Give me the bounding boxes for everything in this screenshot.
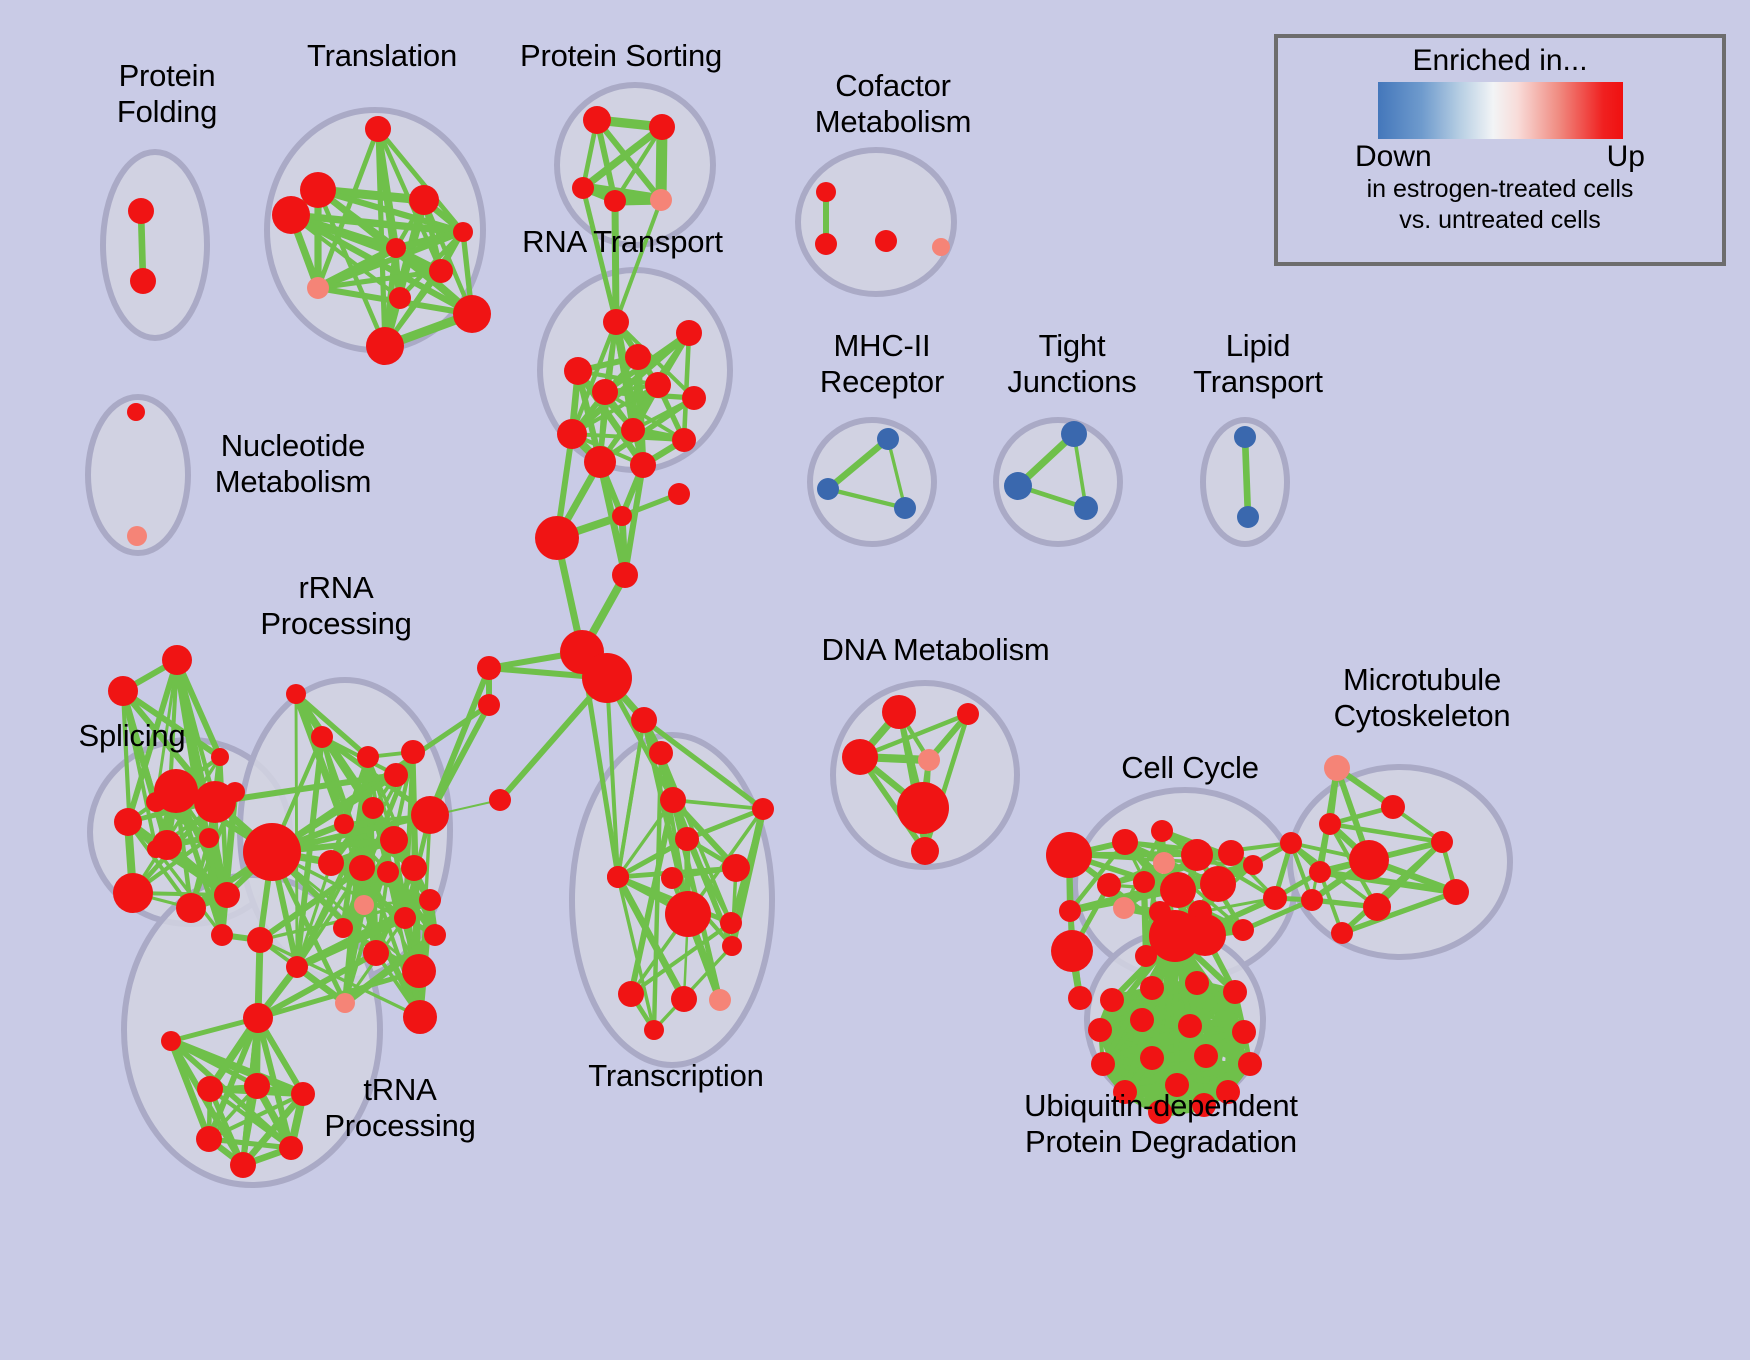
network-node[interactable] xyxy=(114,808,142,836)
network-node[interactable] xyxy=(709,989,731,1011)
legend-title: Enriched in... xyxy=(1412,44,1587,78)
network-node[interactable] xyxy=(214,882,240,908)
cluster-label-translation: Translation xyxy=(292,38,472,74)
cluster-hull-protein-folding xyxy=(103,152,207,338)
cluster-label-ubiquitin: Ubiquitin-dependent Protein Degradation xyxy=(988,1088,1334,1160)
network-node[interactable] xyxy=(1051,930,1093,972)
network-node[interactable] xyxy=(453,222,473,242)
network-node[interactable] xyxy=(1135,945,1157,967)
network-node[interactable] xyxy=(389,287,411,309)
network-node[interactable] xyxy=(612,562,638,588)
network-node[interactable] xyxy=(194,781,236,823)
network-node[interactable] xyxy=(403,1000,437,1034)
network-node[interactable] xyxy=(453,295,491,333)
network-node[interactable] xyxy=(349,855,375,881)
legend-panel: Enriched in... Down Up in estrogen-treat… xyxy=(1274,34,1726,266)
network-node[interactable] xyxy=(362,797,384,819)
network-node[interactable] xyxy=(1061,421,1087,447)
network-node[interactable] xyxy=(402,954,436,988)
network-node[interactable] xyxy=(394,907,416,929)
network-node[interactable] xyxy=(386,238,406,258)
edge xyxy=(615,201,616,322)
network-node[interactable] xyxy=(676,320,702,346)
network-node[interactable] xyxy=(300,172,336,208)
network-node[interactable] xyxy=(911,837,939,865)
network-node[interactable] xyxy=(882,695,916,729)
network-node[interactable] xyxy=(419,889,441,911)
network-node[interactable] xyxy=(668,483,690,505)
legend-low-label: Down xyxy=(1355,140,1432,174)
network-node[interactable] xyxy=(1140,1046,1164,1070)
network-node[interactable] xyxy=(1443,879,1469,905)
network-node[interactable] xyxy=(286,956,308,978)
network-node[interactable] xyxy=(113,873,153,913)
network-node[interactable] xyxy=(128,198,154,224)
network-node[interactable] xyxy=(279,1136,303,1160)
cluster-label-dna-metabolism: DNA Metabolism xyxy=(818,632,1053,668)
network-node[interactable] xyxy=(722,854,750,882)
cluster-label-rna-transport: RNA Transport xyxy=(510,224,735,260)
network-node[interactable] xyxy=(583,106,611,134)
network-node[interactable] xyxy=(1218,840,1244,866)
network-node[interactable] xyxy=(645,372,671,398)
network-node[interactable] xyxy=(1184,914,1226,956)
network-node[interactable] xyxy=(612,506,632,526)
cluster-label-protein-folding: Protein Folding xyxy=(82,58,252,130)
network-node[interactable] xyxy=(1181,839,1213,871)
network-node[interactable] xyxy=(816,182,836,202)
network-node[interactable] xyxy=(478,694,500,716)
network-node[interactable] xyxy=(720,912,742,934)
network-node[interactable] xyxy=(1074,496,1098,520)
network-node[interactable] xyxy=(572,177,594,199)
network-node[interactable] xyxy=(401,855,427,881)
network-node[interactable] xyxy=(243,823,301,881)
network-node[interactable] xyxy=(1004,472,1032,500)
network-node[interactable] xyxy=(752,798,774,820)
network-node[interactable] xyxy=(108,676,138,706)
network-node[interactable] xyxy=(661,867,683,889)
network-node[interactable] xyxy=(366,327,404,365)
network-node[interactable] xyxy=(650,189,672,211)
network-node[interactable] xyxy=(877,428,899,450)
network-node[interactable] xyxy=(247,927,273,953)
network-node[interactable] xyxy=(607,866,629,888)
network-node[interactable] xyxy=(211,924,233,946)
network-node[interactable] xyxy=(365,116,391,142)
network-node[interactable] xyxy=(1363,893,1391,921)
network-node[interactable] xyxy=(1349,840,1389,880)
network-node[interactable] xyxy=(630,452,656,478)
network-node[interactable] xyxy=(401,740,425,764)
network-node[interactable] xyxy=(333,918,353,938)
network-node[interactable] xyxy=(815,233,837,255)
network-node[interactable] xyxy=(557,419,587,449)
cluster-label-cell-cycle: Cell Cycle xyxy=(1110,750,1270,786)
network-node[interactable] xyxy=(603,309,629,335)
network-node[interactable] xyxy=(1232,1020,1256,1044)
network-node[interactable] xyxy=(671,986,697,1012)
network-node[interactable] xyxy=(1301,889,1323,911)
network-node[interactable] xyxy=(1178,1014,1202,1038)
network-node[interactable] xyxy=(384,763,408,787)
network-node[interactable] xyxy=(162,645,192,675)
network-node[interactable] xyxy=(1243,855,1263,875)
network-node[interactable] xyxy=(307,277,329,299)
network-node[interactable] xyxy=(1263,886,1287,910)
network-node[interactable] xyxy=(660,787,686,813)
network-node[interactable] xyxy=(211,748,229,766)
cluster-label-trna-processing: tRNA Processing xyxy=(310,1072,490,1144)
network-node[interactable] xyxy=(604,190,626,212)
network-node[interactable] xyxy=(318,850,344,876)
network-node[interactable] xyxy=(130,268,156,294)
network-node[interactable] xyxy=(230,1152,256,1178)
figure-canvas: Protein FoldingTranslationProtein Sortin… xyxy=(0,0,1750,1360)
cluster-label-nucleotide-metab: Nucleotide Metabolism xyxy=(198,428,388,500)
network-node[interactable] xyxy=(411,796,449,834)
network-node[interactable] xyxy=(1097,873,1121,897)
network-node[interactable] xyxy=(1140,976,1164,1000)
network-node[interactable] xyxy=(377,861,399,883)
network-node[interactable] xyxy=(357,746,379,768)
network-node[interactable] xyxy=(1151,820,1173,842)
network-node[interactable] xyxy=(127,526,147,546)
network-node[interactable] xyxy=(649,114,675,140)
legend-colorbar xyxy=(1378,82,1623,139)
network-node[interactable] xyxy=(1319,813,1341,835)
network-node[interactable] xyxy=(1185,971,1209,995)
network-node[interactable] xyxy=(311,726,333,748)
network-node[interactable] xyxy=(1238,1052,1262,1076)
cluster-label-microtubule: Microtubule Cytoskeleton xyxy=(1316,662,1528,734)
network-node[interactable] xyxy=(1237,506,1259,528)
network-node[interactable] xyxy=(1324,755,1350,781)
network-node[interactable] xyxy=(682,386,706,410)
network-node[interactable] xyxy=(1431,831,1453,853)
legend-high-label: Up xyxy=(1607,140,1645,174)
network-node[interactable] xyxy=(644,1020,664,1040)
network-node[interactable] xyxy=(1113,897,1135,919)
network-node[interactable] xyxy=(1133,871,1155,893)
network-node[interactable] xyxy=(1046,832,1092,878)
network-node[interactable] xyxy=(1381,795,1405,819)
network-node[interactable] xyxy=(932,238,950,256)
network-node[interactable] xyxy=(286,684,306,704)
network-node[interactable] xyxy=(380,826,408,854)
network-node[interactable] xyxy=(489,789,511,811)
network-node[interactable] xyxy=(147,840,165,858)
network-node[interactable] xyxy=(429,259,453,283)
legend-endpoint-labels: Down Up xyxy=(1355,140,1645,174)
network-node[interactable] xyxy=(196,1126,222,1152)
network-node[interactable] xyxy=(477,656,501,680)
network-node[interactable] xyxy=(722,936,742,956)
edge xyxy=(1144,882,1146,956)
network-node[interactable] xyxy=(1100,988,1124,1012)
legend-caption-line-2: vs. untreated cells xyxy=(1399,205,1601,236)
network-node[interactable] xyxy=(1068,986,1092,1010)
network-node[interactable] xyxy=(1223,980,1247,1004)
edge xyxy=(296,694,297,967)
network-node[interactable] xyxy=(894,497,916,519)
network-node[interactable] xyxy=(665,891,711,937)
network-node[interactable] xyxy=(1309,861,1331,883)
network-node[interactable] xyxy=(1088,1018,1112,1042)
cluster-label-mhc-ii-receptor: MHC-II Receptor xyxy=(802,328,962,400)
cluster-hull-cofactor-metab xyxy=(798,150,954,294)
network-node[interactable] xyxy=(424,924,446,946)
network-node[interactable] xyxy=(672,428,696,452)
network-node[interactable] xyxy=(592,379,618,405)
network-node[interactable] xyxy=(1153,852,1175,874)
network-node[interactable] xyxy=(631,707,657,733)
cluster-label-rrna-processing: rRNA Processing xyxy=(246,570,426,642)
network-node[interactable] xyxy=(334,814,354,834)
network-node[interactable] xyxy=(176,893,206,923)
network-node[interactable] xyxy=(272,196,310,234)
network-node[interactable] xyxy=(409,185,439,215)
network-node[interactable] xyxy=(197,1076,223,1102)
network-node[interactable] xyxy=(957,703,979,725)
network-node[interactable] xyxy=(146,792,166,812)
cluster-label-transcription: Transcription xyxy=(576,1058,776,1094)
network-node[interactable] xyxy=(918,749,940,771)
network-node[interactable] xyxy=(1200,866,1236,902)
network-node[interactable] xyxy=(1091,1052,1115,1076)
network-node[interactable] xyxy=(564,357,592,385)
network-node[interactable] xyxy=(1130,1008,1154,1032)
cluster-label-tight-junctions: Tight Junctions xyxy=(992,328,1152,400)
network-node[interactable] xyxy=(243,1003,273,1033)
edge xyxy=(1245,437,1248,517)
network-node[interactable] xyxy=(584,446,616,478)
cluster-label-splicing: Splicing xyxy=(62,718,202,754)
network-node[interactable] xyxy=(582,653,632,703)
network-node[interactable] xyxy=(363,940,389,966)
network-node[interactable] xyxy=(625,344,651,370)
network-node[interactable] xyxy=(1194,1044,1218,1068)
network-node[interactable] xyxy=(1234,426,1256,448)
network-node[interactable] xyxy=(618,981,644,1007)
network-node[interactable] xyxy=(621,418,645,442)
network-node[interactable] xyxy=(335,993,355,1013)
network-node[interactable] xyxy=(897,782,949,834)
network-node[interactable] xyxy=(199,828,219,848)
network-node[interactable] xyxy=(649,741,673,765)
legend-caption-line-1: in estrogen-treated cells xyxy=(1367,174,1634,205)
network-node[interactable] xyxy=(354,895,374,915)
network-node[interactable] xyxy=(817,478,839,500)
network-node[interactable] xyxy=(1059,900,1081,922)
network-node[interactable] xyxy=(535,516,579,560)
network-node[interactable] xyxy=(127,403,145,421)
cluster-label-protein-sorting: Protein Sorting xyxy=(506,38,736,74)
cluster-label-lipid-transport: Lipid Transport xyxy=(1178,328,1338,400)
network-node[interactable] xyxy=(1331,922,1353,944)
network-node[interactable] xyxy=(675,827,699,851)
network-node[interactable] xyxy=(1232,919,1254,941)
network-node[interactable] xyxy=(1280,832,1302,854)
network-node[interactable] xyxy=(1112,829,1138,855)
network-node[interactable] xyxy=(875,230,897,252)
network-node[interactable] xyxy=(161,1031,181,1051)
network-node[interactable] xyxy=(842,739,878,775)
network-node[interactable] xyxy=(244,1073,270,1099)
cluster-label-cofactor-metab: Cofactor Metabolism xyxy=(798,68,988,140)
